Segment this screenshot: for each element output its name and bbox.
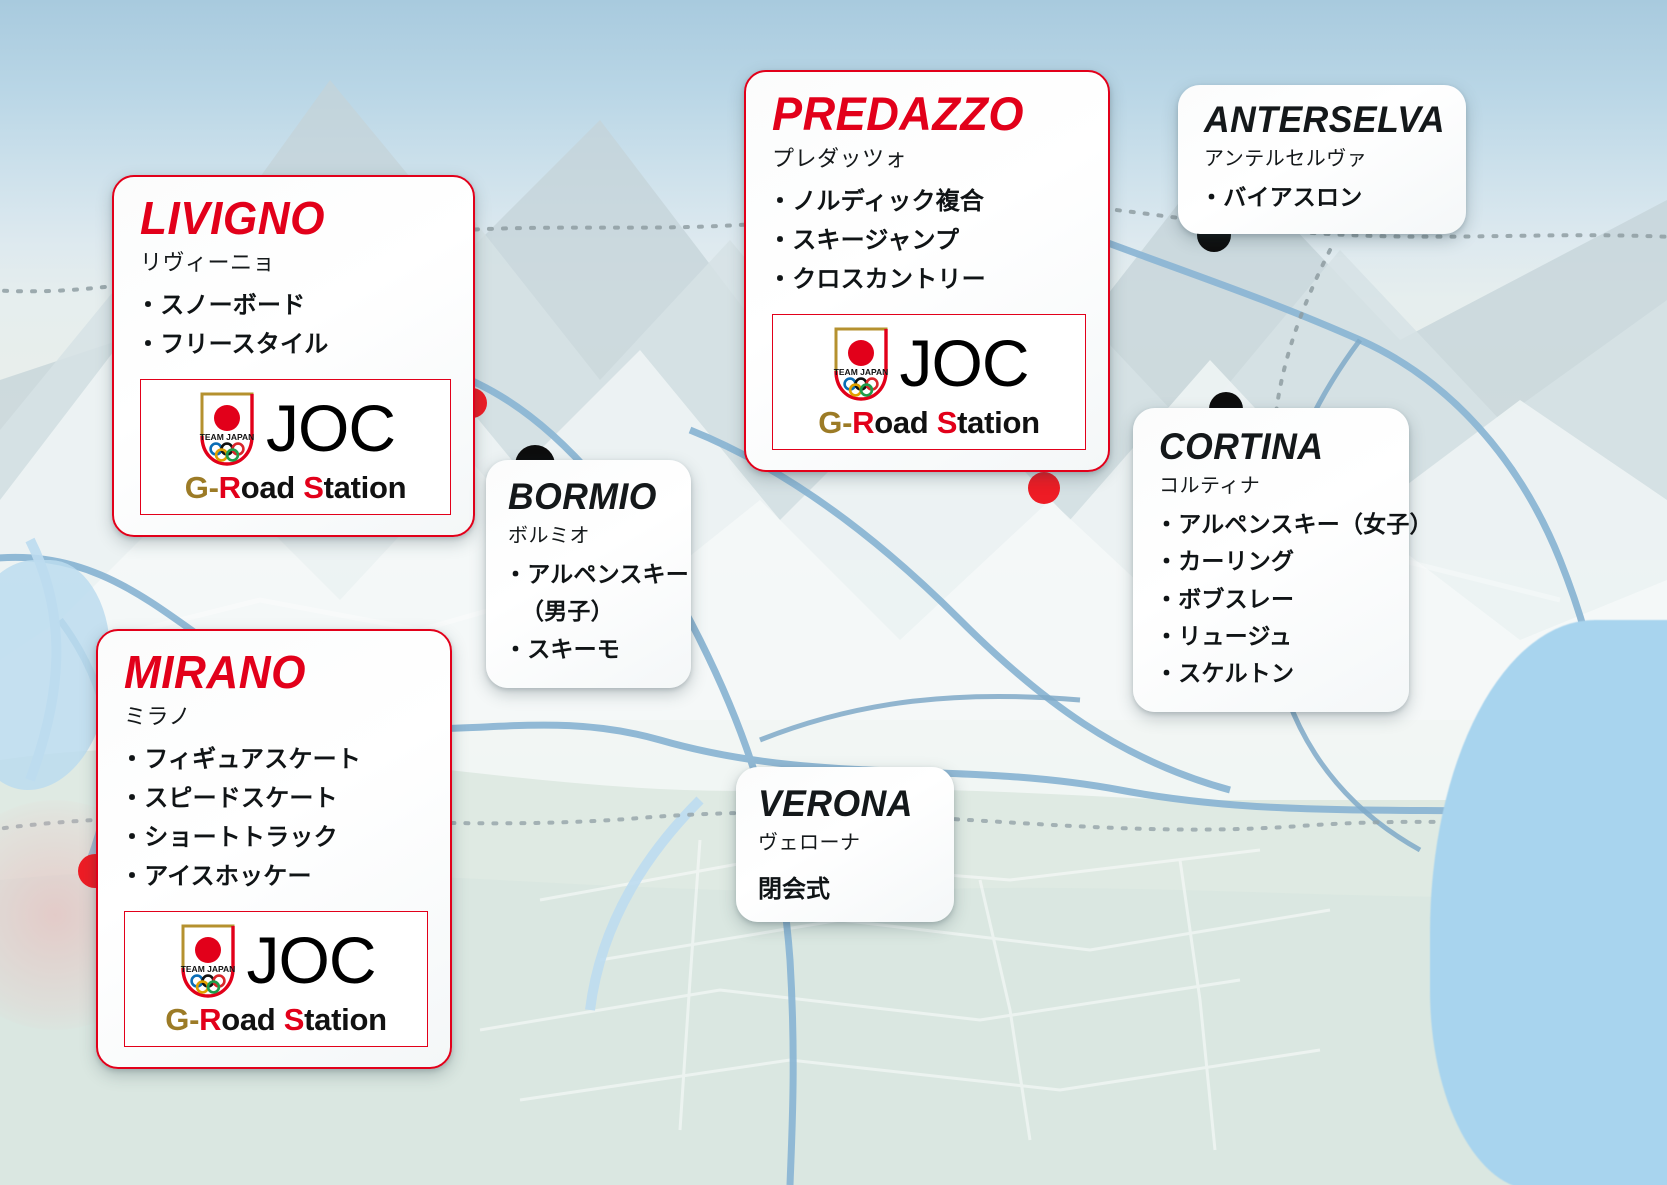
card-subtitle-anterselva: アンテルセルヴァ (1204, 142, 1444, 171)
list-item: ノルディック複合 (772, 183, 1086, 222)
verona-ceremony-label: 閉会式 (758, 869, 938, 904)
joc-wordmark: JOC (247, 929, 376, 992)
joc-wordmark: JOC (266, 397, 395, 460)
card-title-bormio: BORMIO (508, 478, 670, 515)
list-item: ショートトラック (124, 819, 428, 858)
joc-g-road-station-badge[interactable]: TEAM JAPAN JOC G-Road Station (772, 314, 1086, 450)
joc-station-g: G- (818, 405, 852, 440)
card-title-cortina: CORTINA (1159, 428, 1382, 465)
card-subtitle-mirano: ミラノ (124, 699, 428, 731)
joc-station-g: G- (185, 470, 219, 505)
card-title-verona: VERONA (758, 785, 931, 822)
sport-list-cortina: アルペンスキー（女子） カーリング ボブスレー リュージュ スケルトン (1159, 506, 1391, 692)
venue-card-cortina[interactable]: CORTINA コルティナ アルペンスキー（女子） カーリング ボブスレー リュ… (1133, 408, 1409, 712)
card-subtitle-bormio: ボルミオ (508, 519, 677, 548)
list-item-continuation: （男子） (508, 593, 677, 630)
list-item: スノーボード (140, 287, 451, 326)
list-item: アルペンスキー (508, 556, 677, 593)
list-item: リュージュ (1159, 618, 1391, 655)
list-item: スケルトン (1159, 655, 1391, 692)
venue-card-anterselva[interactable]: ANTERSELVA アンテルセルヴァ バイアスロン (1178, 85, 1466, 234)
card-title-anterselva: ANTERSELVA (1204, 101, 1434, 138)
list-item: クロスカントリー (772, 261, 1086, 300)
joc-station-tation: tation (957, 405, 1040, 440)
joc-station-tation: tation (324, 470, 407, 505)
marker-predazzo[interactable] (1028, 472, 1060, 504)
card-subtitle-verona: ヴェローナ (758, 826, 938, 855)
card-subtitle-cortina: コルティナ (1159, 469, 1391, 498)
list-item: アイスホッケー (124, 858, 428, 897)
list-item: アルペンスキー（女子） (1159, 506, 1391, 543)
list-item: スキージャンプ (772, 222, 1086, 261)
joc-team-japan-emblem-icon: TEAM JAPAN (196, 390, 258, 468)
joc-g-road-station-badge[interactable]: TEAM JAPAN JOC G-Road Station (124, 911, 428, 1047)
list-item: バイアスロン (1204, 179, 1444, 216)
joc-station-oad: oad (241, 470, 304, 505)
list-item: フィギュアスケート (124, 741, 428, 780)
joc-station-r: R (199, 1002, 221, 1037)
venue-map-infographic: LIVIGNO リヴィーニョ スノーボード フリースタイル TEAM JAPAN (0, 0, 1667, 1185)
joc-station-text: G-Road Station (165, 1002, 386, 1038)
joc-station-tation: tation (304, 1002, 387, 1037)
joc-station-oad: oad (874, 405, 937, 440)
joc-station-s: S (303, 470, 323, 505)
joc-station-oad: oad (221, 1002, 284, 1037)
sport-list-predazzo: ノルディック複合 スキージャンプ クロスカントリー (772, 183, 1086, 300)
joc-station-text: G-Road Station (185, 470, 406, 506)
card-subtitle-livigno: リヴィーニョ (140, 245, 451, 277)
joc-station-text: G-Road Station (818, 405, 1039, 441)
joc-station-s: S (937, 405, 957, 440)
venue-card-livigno[interactable]: LIVIGNO リヴィーニョ スノーボード フリースタイル TEAM JAPAN (112, 175, 475, 537)
list-item: カーリング (1159, 543, 1391, 580)
joc-station-g: G- (165, 1002, 199, 1037)
joc-g-road-station-badge[interactable]: TEAM JAPAN JOC G-Road Station (140, 379, 451, 515)
card-subtitle-predazzo: プレダッツォ (772, 141, 1086, 173)
sport-list-anterselva: バイアスロン (1204, 179, 1444, 216)
joc-station-r: R (219, 470, 241, 505)
venue-card-predazzo[interactable]: PREDAZZO プレダッツォ ノルディック複合 スキージャンプ クロスカントリ… (744, 70, 1110, 472)
venue-card-verona[interactable]: VERONA ヴェローナ 閉会式 (736, 767, 954, 922)
sport-list-livigno: スノーボード フリースタイル (140, 287, 451, 365)
svg-text:TEAM JAPAN: TEAM JAPAN (833, 367, 888, 377)
list-item: スピードスケート (124, 780, 428, 819)
sport-list-mirano: フィギュアスケート スピードスケート ショートトラック アイスホッケー (124, 741, 428, 897)
joc-station-r: R (852, 405, 874, 440)
list-item: スキーモ (508, 631, 677, 668)
sport-list-bormio: アルペンスキー （男子） スキーモ (508, 556, 677, 668)
list-item: ボブスレー (1159, 581, 1391, 618)
venue-card-bormio[interactable]: BORMIO ボルミオ アルペンスキー （男子） スキーモ (486, 460, 691, 688)
venue-card-mirano[interactable]: MIRANO ミラノ フィギュアスケート スピードスケート ショートトラック ア… (96, 629, 452, 1069)
card-title-predazzo: PREDAZZO (772, 90, 1073, 137)
svg-text:TEAM JAPAN: TEAM JAPAN (180, 964, 235, 974)
list-item: フリースタイル (140, 326, 451, 365)
joc-team-japan-emblem-icon: TEAM JAPAN (830, 325, 892, 403)
svg-text:TEAM JAPAN: TEAM JAPAN (200, 432, 255, 442)
card-title-livigno: LIVIGNO (140, 195, 439, 241)
card-title-mirano: MIRANO (124, 649, 416, 695)
joc-wordmark: JOC (900, 332, 1029, 395)
joc-station-s: S (284, 1002, 304, 1037)
joc-team-japan-emblem-icon: TEAM JAPAN (177, 922, 239, 1000)
